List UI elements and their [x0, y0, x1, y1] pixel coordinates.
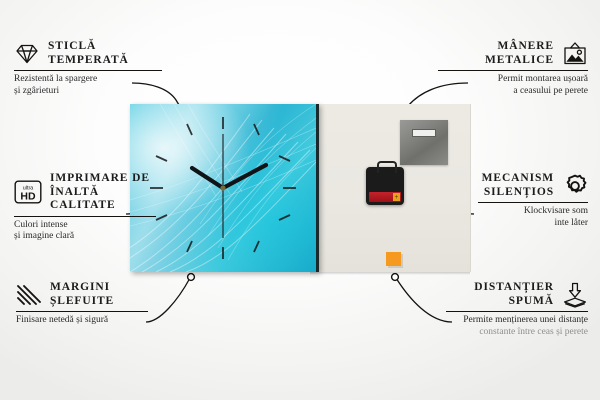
clock-back-panel: + [310, 104, 471, 272]
feature-desc-line-2: constante între ceas și perete [446, 327, 588, 339]
clock-front-glass [130, 104, 319, 272]
battery: + [369, 192, 401, 202]
feature-rule [446, 311, 588, 312]
picture-frame-icon [562, 41, 588, 67]
clock-dial [130, 104, 316, 272]
infographic-canvas: + [0, 0, 600, 400]
feature-title-line-2: ÎNALTĂ CALITATE [50, 186, 156, 213]
feature-title-line-2: SPUMĂ [474, 295, 554, 309]
quartz-movement: + [366, 167, 404, 205]
hanger-slot [412, 129, 436, 137]
feature-title-line-1: STICLĂ [48, 40, 129, 54]
foam-spacer-pad [386, 252, 401, 266]
feature-rule [16, 311, 148, 312]
panel-shadow [310, 272, 470, 275]
feature-desc-line-1: Klockvisare som [478, 206, 588, 218]
gear-icon [562, 173, 588, 199]
feature-rule [14, 216, 156, 217]
wire-foam-spacer [396, 278, 452, 322]
feature-desc-line-2: a ceasului pe perete [438, 86, 588, 98]
movement-hook [377, 161, 397, 173]
feature-foam-spacer: DISTANȚIER SPUMĂ Permite menținerea unei… [446, 281, 588, 338]
feature-desc-line-1: Permit montarea ușoară [438, 74, 588, 86]
feature-desc-line-2: și zgârieturi [14, 86, 162, 98]
feature-title-line-2: TEMPERATĂ [48, 54, 129, 68]
feature-desc-line-2: și imagine clară [14, 231, 156, 243]
wire-polished-edges [146, 278, 190, 322]
feature-desc-line-1: Finisare netedă și sigură [16, 315, 148, 327]
feature-polished-edges: MARGINI ȘLEFUITE Finisare netedă și sigu… [16, 281, 148, 327]
feature-silent-mechanism: MECANISM SILENȚIOS Klockvisare som inte … [478, 172, 588, 229]
diagonal-lines-icon [16, 284, 42, 306]
feature-desc-line-1: Permite menținerea unei distanțe [446, 315, 588, 327]
feature-desc-line-2: inte låter [478, 218, 588, 230]
battery-terminal: + [393, 193, 400, 201]
feature-title-line-1: IMPRIMARE DE [50, 172, 156, 186]
wire-dot-polished-edges [188, 274, 195, 281]
feature-rule [438, 70, 588, 71]
product-image: + [130, 104, 470, 272]
feature-desc-line-1: Rezistentă la spargere [14, 74, 162, 86]
feature-title-line-2: SILENȚIOS [482, 186, 554, 200]
feature-title-line-1: MÂNERE [485, 40, 554, 54]
hour-hand [192, 168, 223, 188]
ultra-hd-large-label: HD [20, 191, 36, 203]
feature-metal-hangers: MÂNERE METALICE Permit montarea ușoară a… [438, 40, 588, 97]
feature-title-line-2: ȘLEFUITE [50, 295, 114, 309]
feature-desc-line-1: Culori intense [14, 220, 156, 232]
feature-tempered-glass: STICLĂ TEMPERATĂ Rezistentă la spargere … [14, 40, 162, 97]
press-down-arrow-icon [562, 282, 588, 308]
feature-title-line-1: MARGINI [50, 281, 114, 295]
feature-title-line-1: DISTANȚIER [474, 281, 554, 295]
feature-title-line-1: MECANISM [482, 172, 554, 186]
feature-rule [478, 202, 588, 203]
feature-hd-print: ultra HD IMPRIMARE DE ÎNALTĂ CALITATE Cu… [14, 172, 156, 243]
feature-title-line-2: METALICE [485, 54, 554, 68]
feature-rule [14, 70, 162, 71]
hands-center-cap [220, 185, 225, 190]
ultra-hd-icon: ultra HD [14, 180, 42, 204]
minute-hand [223, 165, 266, 188]
diamond-icon [14, 43, 40, 65]
metal-hanger-plate [400, 120, 448, 165]
